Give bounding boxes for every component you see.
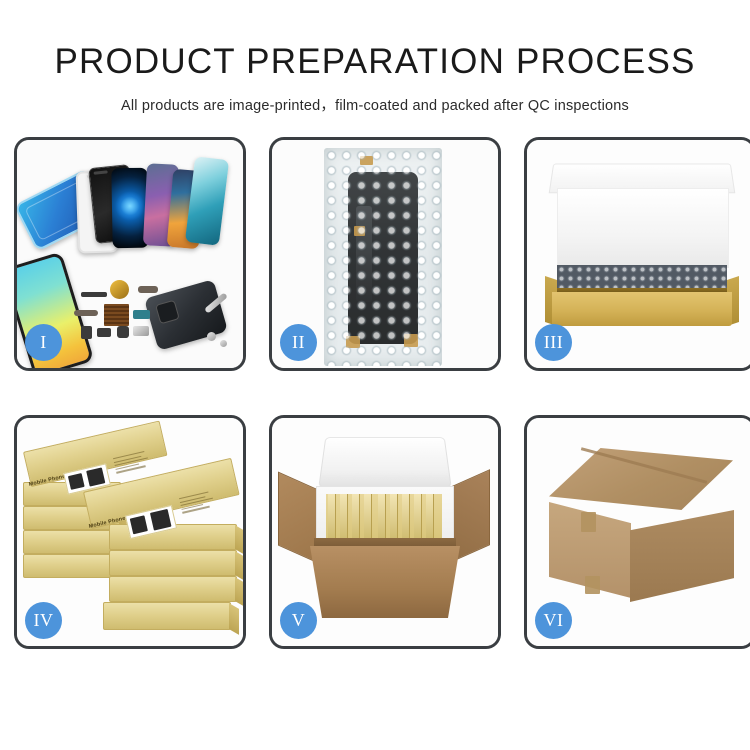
process-step-6: VI [524,415,750,649]
spare-part-button [97,328,111,337]
process-step-5: V [269,415,501,649]
spare-part-connector [133,310,150,319]
box-stack: Mobile Phone Spare Parts Mobile Phone Sp… [23,436,239,632]
stacked-box-r4 [103,602,231,630]
step-badge-2: II [280,324,317,361]
infographic-page: PRODUCT PREPARATION PROCESS All products… [0,0,750,750]
step-badge-4: IV [25,602,62,639]
page-title: PRODUCT PREPARATION PROCESS [0,44,750,79]
carton-tape-lower [585,576,600,594]
spare-part-camera [81,326,92,339]
stacked-box-r2 [109,550,237,576]
bag-tape-top [360,156,373,165]
header: PRODUCT PREPARATION PROCESS All products… [0,0,750,115]
spare-part-module [117,326,129,338]
carton-right-face [630,510,734,602]
foam-sheet [557,188,729,268]
spare-part-screw-a [207,332,216,341]
spare-part-chip-array [104,304,129,326]
step-badge-1: I [25,324,62,361]
carton-top-face [549,448,733,510]
spare-part-speaker [81,292,107,297]
bag-tape-bottom-left [346,336,360,348]
wrapped-part [348,172,418,344]
page-subtitle: All products are image-printed，film-coat… [0,94,750,115]
process-step-2: II [269,137,501,371]
stacked-box-r3 [109,576,237,602]
bag-tape-mid [354,226,365,236]
step-badge-5: V [280,602,317,639]
spare-part-vibrator [110,280,129,299]
spare-part-flex-b [74,310,98,316]
box-front-wall [552,292,732,326]
step-badge-6: VI [535,602,572,639]
stacked-box-l3 [23,530,121,554]
process-step-4: Mobile Phone Spare Parts Mobile Phone Sp… [14,415,246,649]
step-badge-3: III [535,324,572,361]
process-step-3: III [524,137,750,371]
stacked-box-l4 [23,554,121,578]
foam-cooler-lid [318,437,451,487]
process-step-1: I [14,137,246,371]
packed-kraft-boxes [326,494,442,542]
carton-body [310,546,460,618]
spare-part-screw-b [220,340,227,347]
bubble-bag [324,148,442,366]
bag-tape-bottom-right [404,334,418,347]
spare-part-bracket [133,326,149,336]
process-grid: I II [14,137,736,682]
spare-part-flex-a [138,286,158,293]
carton-tape-upper [581,512,596,532]
